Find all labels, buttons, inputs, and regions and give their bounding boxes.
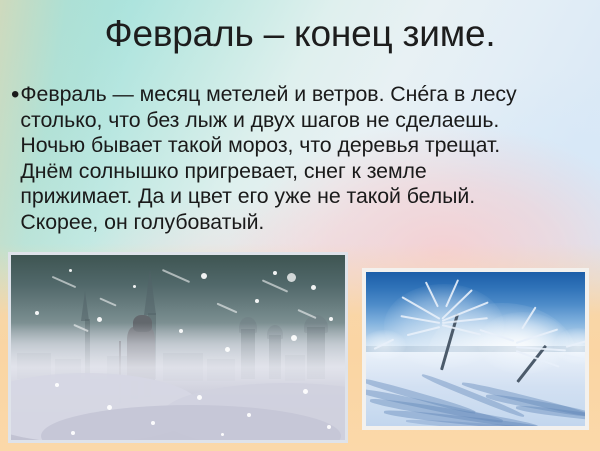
snowflake — [225, 347, 230, 352]
snowflake — [303, 389, 308, 394]
snowflake — [69, 269, 72, 272]
snowflake — [107, 405, 112, 410]
snowflake — [329, 317, 333, 321]
blizzard-spire-top — [81, 291, 89, 321]
snowflake — [179, 329, 183, 333]
snowflake — [247, 413, 251, 417]
snowflake — [255, 299, 259, 303]
bullet-marker-icon: • — [11, 82, 19, 108]
snowflake — [197, 395, 202, 400]
snowflake — [273, 271, 277, 275]
snowflake — [221, 433, 224, 436]
snowflake — [311, 285, 316, 290]
snowflake — [97, 317, 102, 322]
snowflake — [287, 273, 296, 282]
blizzard-town-photo-inner — [11, 255, 345, 440]
snowflake — [55, 383, 59, 387]
snowflake — [71, 431, 75, 435]
slide-title: Февраль – конец зиме. — [0, 14, 600, 54]
snowflake — [151, 421, 155, 425]
snowflake — [327, 425, 331, 429]
snowflake — [291, 335, 297, 341]
slide-body-bullet: • Февраль — месяц метелей и ветров. Снéг… — [11, 82, 537, 236]
blizzard-town-photo — [8, 252, 348, 443]
snowflake — [133, 285, 136, 288]
snowflake — [35, 311, 39, 315]
blizzard-spire-top — [144, 269, 156, 315]
presentation-slide: Февраль – конец зиме. • Февраль — месяц … — [0, 0, 600, 451]
sunny-winter-photo — [362, 268, 589, 430]
sunny-winter-photo-inner — [366, 272, 585, 426]
snowflake — [201, 273, 207, 279]
slide-body-text: Февраль — месяц метелей и ветров. Снéга … — [20, 82, 537, 236]
